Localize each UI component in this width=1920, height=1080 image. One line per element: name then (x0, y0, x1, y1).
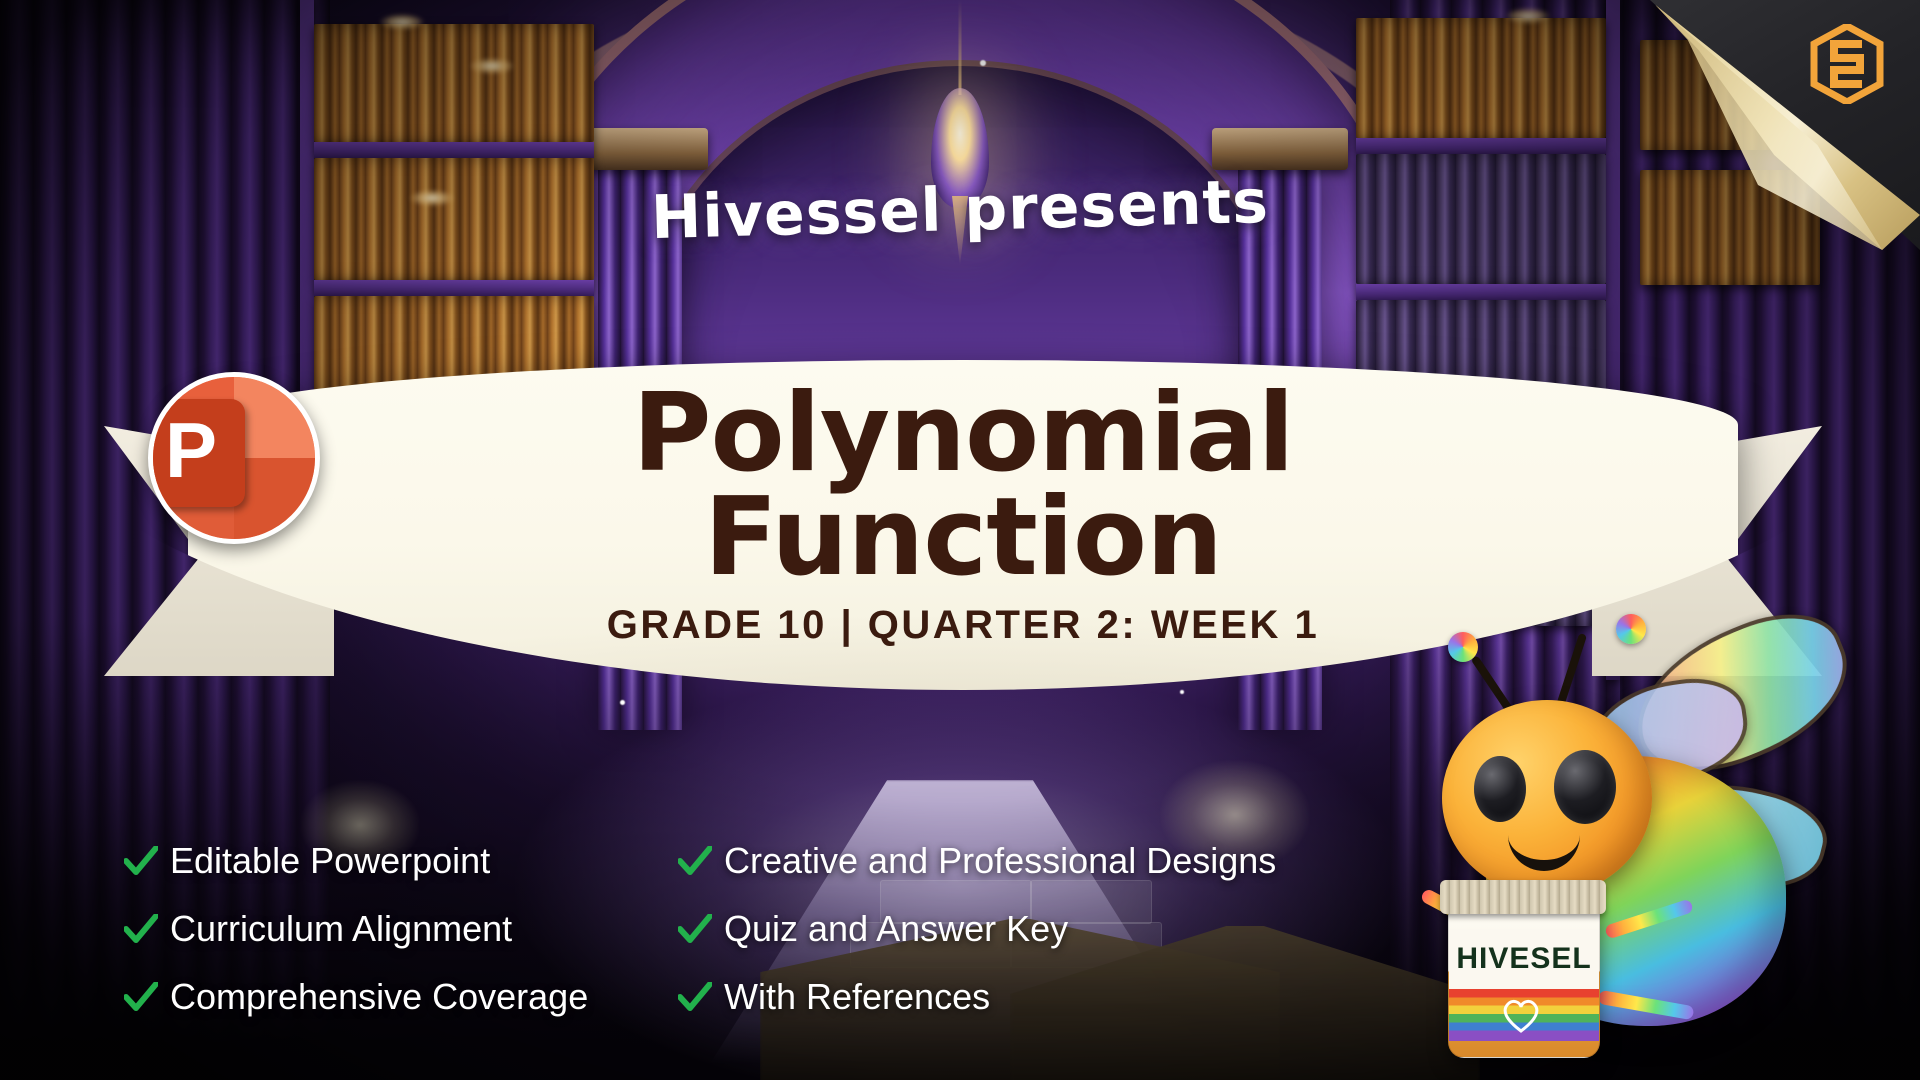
feature-label: With References (724, 976, 990, 1018)
feature-label: Comprehensive Coverage (170, 976, 588, 1018)
list-item: Comprehensive Coverage (124, 976, 588, 1018)
hexagon-s-logo-icon (1810, 24, 1884, 104)
check-mark-icon (678, 982, 712, 1012)
check-mark-icon (124, 914, 158, 944)
shelf-frame (1356, 284, 1606, 300)
check-mark-icon (678, 846, 712, 876)
title-line-1: Polynomial (632, 382, 1293, 486)
bee-eye (1554, 750, 1616, 824)
sparkle (1180, 690, 1184, 694)
shelf-frame (1356, 138, 1606, 154)
list-item: Creative and Professional Designs (678, 840, 1276, 882)
check-mark-icon (678, 914, 712, 944)
check-mark-icon (124, 982, 158, 1012)
shelf-light (470, 58, 514, 74)
honey-jar: HIVESEL (1448, 896, 1600, 1058)
ppt-quadrant (234, 458, 315, 539)
list-item: Editable Powerpoint (124, 840, 588, 882)
shelf-light (1506, 8, 1550, 24)
feature-list-right: Creative and Professional Designs Quiz a… (678, 840, 1276, 1018)
shelf-frame (314, 142, 594, 158)
feature-label: Editable Powerpoint (170, 840, 490, 882)
heart-icon (1501, 997, 1541, 1033)
ppt-letter: P (148, 399, 245, 507)
pillar-cap (1212, 128, 1348, 170)
page-title: Polynomial Function (632, 382, 1293, 589)
ppt-quadrant (234, 377, 315, 458)
page-subtitle: GRADE 10 | QUARTER 2: WEEK 1 (607, 603, 1319, 648)
list-item: Quiz and Answer Key (678, 908, 1276, 950)
feature-label: Curriculum Alignment (170, 908, 512, 950)
sparkle (620, 700, 625, 705)
list-item: With References (678, 976, 1276, 1018)
sparkle (980, 60, 986, 66)
rainbow-bee-mascot: HIVESEL (1390, 606, 1910, 1080)
bee-antenna-tip (1616, 614, 1646, 644)
bee-antenna-tip (1448, 632, 1478, 662)
feature-list-left: Editable Powerpoint Curriculum Alignment… (124, 840, 588, 1018)
feature-label: Quiz and Answer Key (724, 908, 1068, 950)
chandelier-chain (959, 0, 962, 95)
page-curl-corner (1650, 0, 1920, 250)
title-line-2: Function (632, 486, 1293, 590)
poster-canvas: Hivessel presents Polynomial Function GR… (0, 0, 1920, 1080)
jar-lid (1440, 880, 1606, 914)
shelf-light (410, 190, 454, 206)
bookshelf-row (1356, 18, 1606, 138)
powerpoint-icon: P (148, 372, 320, 544)
feature-label: Creative and Professional Designs (724, 840, 1276, 882)
shelf-light (380, 14, 424, 30)
jar-label: HIVESEL (1449, 929, 1599, 989)
bookshelf-row (314, 24, 594, 142)
bookshelf-row (1356, 154, 1606, 284)
shelf-frame (314, 280, 594, 296)
bee-eye (1474, 756, 1526, 822)
check-mark-icon (124, 846, 158, 876)
list-item: Curriculum Alignment (124, 908, 588, 950)
bookshelf-row (314, 158, 594, 280)
